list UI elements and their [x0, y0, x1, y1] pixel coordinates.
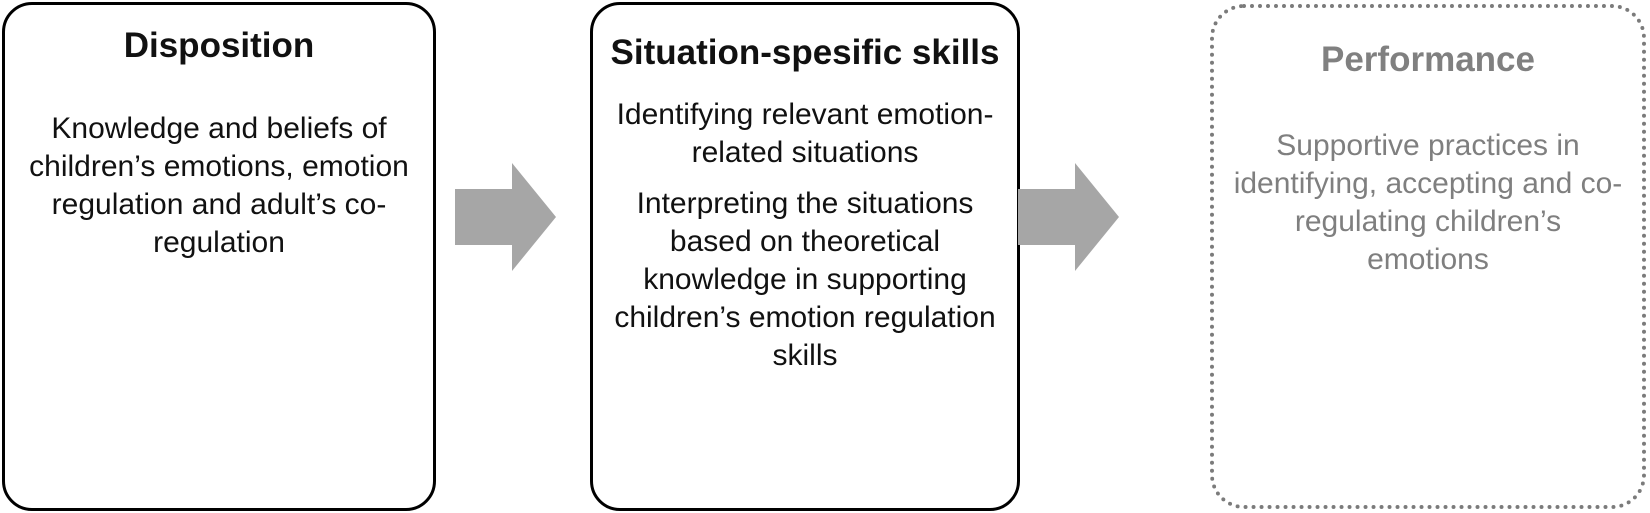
stage-body-performance: Supportive practices in identifying, acc…: [1232, 127, 1624, 279]
flow-arrow-right-icon: [455, 163, 556, 271]
stage-title-situation-specific-skills: Situation-spesific skills: [611, 31, 1000, 75]
diagram-canvas: Disposition Knowledge and beliefs of chi…: [0, 0, 1650, 513]
stage-title-disposition: Disposition: [124, 24, 315, 68]
stage-title-performance: Performance: [1321, 38, 1535, 82]
stage-box-disposition: Disposition Knowledge and beliefs of chi…: [2, 2, 436, 511]
flow-arrow-right-icon: [1018, 163, 1119, 271]
stage-box-performance: Performance Supportive practices in iden…: [1210, 4, 1646, 509]
stage-box-situation-specific-skills: Situation-spesific skills Identifying re…: [590, 2, 1020, 511]
stage-body-disposition: Knowledge and beliefs of children’s emot…: [21, 110, 417, 262]
stage-body-situation-specific-skills-2: Interpreting the situations based on the…: [599, 185, 1011, 375]
stage-body-situation-specific-skills-1: Identifying relevant emotion-related sit…: [605, 96, 1005, 172]
